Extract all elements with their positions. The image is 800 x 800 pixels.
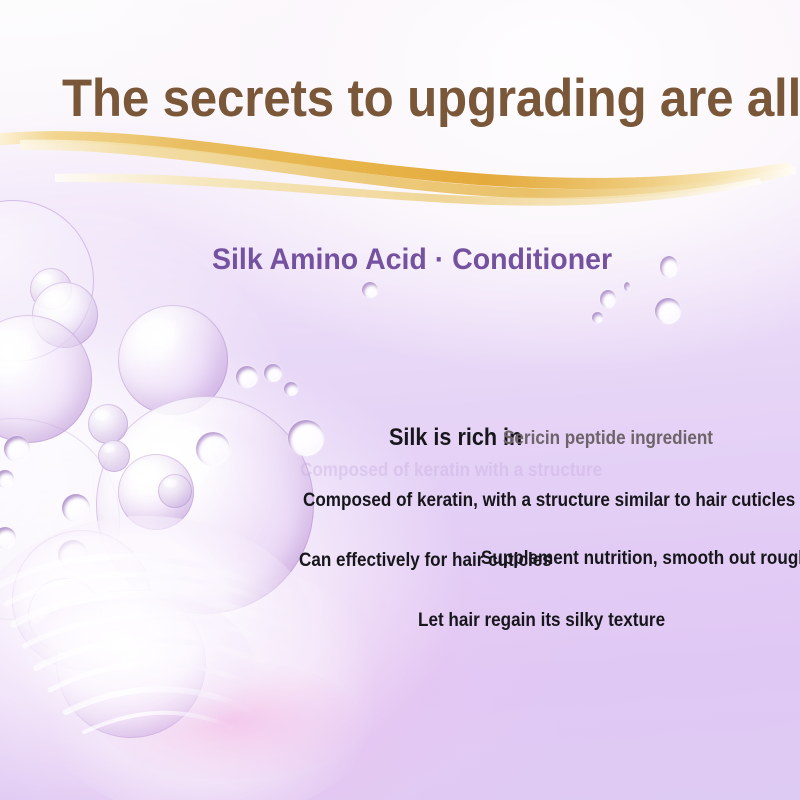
droplet-right-2 bbox=[600, 290, 616, 308]
droplet-1 bbox=[4, 436, 30, 462]
droplet-right-3 bbox=[624, 282, 630, 291]
droplet-6 bbox=[236, 366, 258, 388]
feature-3-detail: Supplement nutrition, smooth out roughne… bbox=[481, 548, 800, 570]
product-title: Silk Amino Acid · Conditioner bbox=[212, 243, 612, 277]
ghost-watermark-text: Composed of keratin with a structure bbox=[300, 460, 602, 482]
bubble-small-3 bbox=[88, 404, 128, 444]
droplet-right-1 bbox=[660, 256, 678, 278]
droplet-8 bbox=[284, 382, 298, 396]
droplet-right-5 bbox=[655, 298, 681, 324]
droplet-10 bbox=[362, 282, 378, 298]
silk-cream-swirl bbox=[0, 500, 360, 800]
feature-1-detail: Sericin peptide ingredient bbox=[503, 428, 713, 450]
bubble-small-4 bbox=[98, 440, 130, 472]
page-title: The secrets to upgrading are all here bbox=[62, 68, 800, 129]
feature-2-detail: Composed of keratin, with a structure si… bbox=[303, 490, 795, 512]
product-banner: The secrets to upgrading are all here Si… bbox=[0, 0, 800, 800]
droplet-right-4 bbox=[592, 312, 603, 323]
droplet-11 bbox=[196, 432, 230, 466]
droplet-9 bbox=[288, 420, 324, 456]
feature-4-detail: Let hair regain its silky texture bbox=[418, 610, 665, 632]
droplet-7 bbox=[264, 364, 282, 382]
